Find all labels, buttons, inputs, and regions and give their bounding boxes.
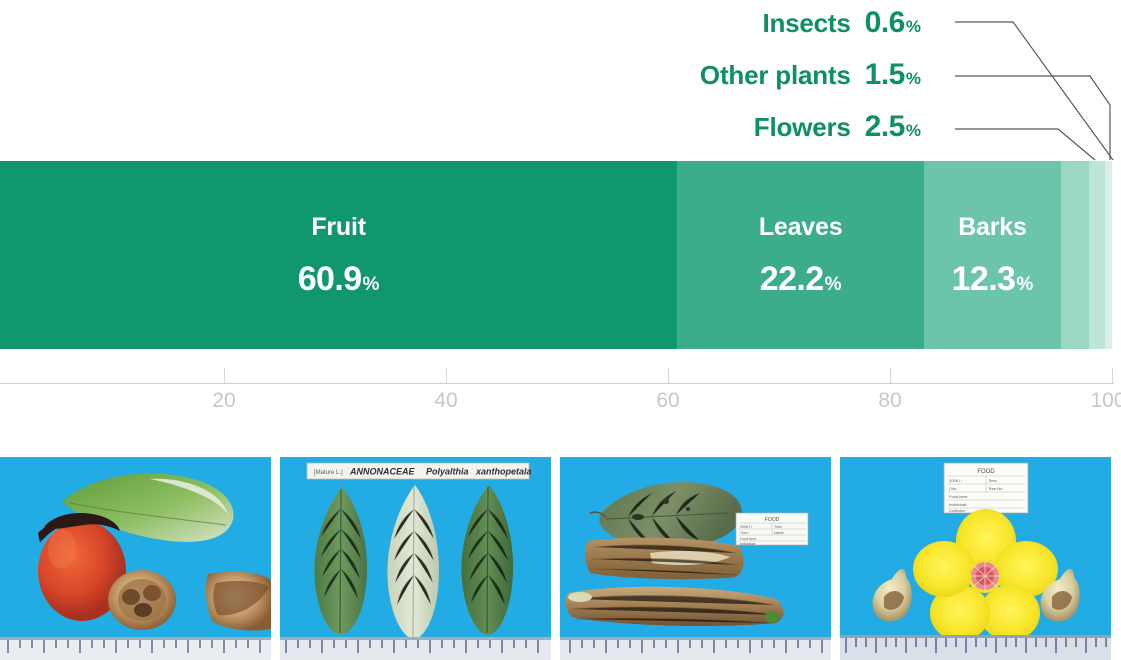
bar-segment-barks-valuerow: 12.3 % bbox=[952, 262, 1034, 296]
bar-segment-barks[interactable]: Barks 12.3 % bbox=[924, 161, 1061, 349]
svg-text:| No.: | No. bbox=[949, 486, 957, 491]
bar-segment-barks-value: 12.3 bbox=[952, 262, 1016, 296]
svg-text:2008 / /: 2008 / / bbox=[949, 478, 963, 483]
svg-text:Food Item:: Food Item: bbox=[949, 494, 968, 499]
svg-text:Time: Time bbox=[988, 478, 998, 483]
callout-insects: Insects 0.6 % bbox=[762, 6, 921, 40]
bar-segment-fruit[interactable]: Fruit 60.9 % bbox=[0, 161, 677, 349]
bar-segment-leaves-valuerow: 22.2 % bbox=[760, 262, 842, 296]
svg-text:ANNONACEAE: ANNONACEAE bbox=[349, 467, 416, 477]
callout-insects-label: Insects bbox=[762, 8, 850, 39]
stacked-bar-chart: Fruit 60.9 % Leaves 22.2 % Barks 12.3 % bbox=[0, 161, 1112, 349]
x-axis-label-80: 80 bbox=[878, 389, 901, 413]
photo-leaves[interactable]: [Mature L.] ANNONACEAE Polyalthia xantho… bbox=[280, 457, 551, 660]
photo-flowers-image: FOOD 2008 / / Time | No. Tree No. Food I… bbox=[840, 457, 1111, 660]
callout-other-plants-percent-sign: % bbox=[906, 69, 921, 89]
callout-flowers-value: 2.5 bbox=[865, 110, 905, 144]
x-axis: 20 40 60 80 100 bbox=[0, 349, 1121, 419]
svg-text:FOOD: FOOD bbox=[765, 517, 780, 523]
bar-segment-fruit-value: 60.9 bbox=[298, 262, 362, 296]
callout-flowers-label: Flowers bbox=[754, 112, 851, 143]
x-axis-tick-60 bbox=[668, 368, 669, 383]
x-axis-tick-20 bbox=[224, 368, 225, 383]
x-axis-label-100: 100 bbox=[1090, 389, 1121, 413]
x-axis-label-40: 40 bbox=[434, 389, 457, 413]
svg-text:[Mature L.]: [Mature L.] bbox=[314, 470, 343, 476]
callout-group: Insects 0.6 % Other plants 1.5 % Flowers… bbox=[0, 0, 1121, 160]
svg-text:2008 / /: 2008 / / bbox=[740, 525, 752, 529]
x-axis-label-60: 60 bbox=[656, 389, 679, 413]
bar-segment-barks-label: Barks bbox=[958, 215, 1027, 240]
bar-segment-leaves-percent-sign: % bbox=[825, 275, 842, 294]
callout-other-plants-value: 1.5 bbox=[865, 58, 905, 92]
svg-text:Polyalthia: Polyalthia bbox=[426, 467, 469, 477]
bar-segment-fruit-label: Fruit bbox=[311, 215, 366, 240]
bar-segment-leaves[interactable]: Leaves 22.2 % bbox=[677, 161, 924, 349]
bar-segment-leaves-label: Leaves bbox=[759, 215, 843, 240]
callout-other-plants: Other plants 1.5 % bbox=[700, 58, 921, 92]
callout-flowers: Flowers 2.5 % bbox=[754, 110, 921, 144]
svg-text:Collector:: Collector: bbox=[949, 508, 966, 513]
svg-text:xanthopetala: xanthopetala bbox=[475, 467, 532, 477]
svg-text:FOOD: FOOD bbox=[977, 469, 995, 475]
svg-text:Tree /: Tree / bbox=[740, 531, 749, 535]
svg-text:Individual:: Individual: bbox=[949, 502, 967, 507]
bar-segment-fruit-valuerow: 60.9 % bbox=[298, 262, 380, 296]
x-axis-tick-40 bbox=[446, 368, 447, 383]
photo-leaves-image: [Mature L.] ANNONACEAE Polyalthia xantho… bbox=[280, 457, 551, 660]
bar-segment-barks-percent-sign: % bbox=[1016, 275, 1033, 294]
x-axis-tick-100 bbox=[1112, 368, 1113, 383]
svg-text:Time: Time bbox=[774, 525, 782, 529]
svg-text:Tree No.: Tree No. bbox=[988, 486, 1003, 491]
bar-segment-insects[interactable] bbox=[1105, 161, 1112, 349]
photo-fruit[interactable] bbox=[0, 457, 271, 660]
svg-text:Name: Name bbox=[774, 531, 784, 535]
svg-text:Food Item:: Food Item: bbox=[740, 537, 757, 541]
bar-segment-flowers[interactable] bbox=[1061, 161, 1089, 349]
bar-segment-leaves-value: 22.2 bbox=[760, 262, 824, 296]
bar-segment-other-plants[interactable] bbox=[1089, 161, 1106, 349]
callout-insects-percent-sign: % bbox=[906, 17, 921, 37]
x-axis-tick-80 bbox=[890, 368, 891, 383]
photo-barks[interactable]: FOOD 2008 / / Time Tree / Name Food Item… bbox=[560, 457, 831, 660]
callout-insects-value: 0.6 bbox=[865, 6, 905, 40]
callout-other-plants-label: Other plants bbox=[700, 60, 851, 91]
svg-text:Individual:: Individual: bbox=[740, 542, 756, 546]
photo-flowers[interactable]: FOOD 2008 / / Time | No. Tree No. Food I… bbox=[840, 457, 1111, 660]
photo-barks-image: FOOD 2008 / / Time Tree / Name Food Item… bbox=[560, 457, 831, 660]
infographic-stage: Insects 0.6 % Other plants 1.5 % Flowers… bbox=[0, 0, 1121, 660]
x-axis-label-20: 20 bbox=[212, 389, 235, 413]
bar-segment-fruit-percent-sign: % bbox=[363, 275, 380, 294]
photo-strip: [Mature L.] ANNONACEAE Polyalthia xantho… bbox=[0, 457, 1121, 660]
callout-flowers-percent-sign: % bbox=[906, 121, 921, 141]
x-axis-line bbox=[0, 383, 1114, 384]
photo-fruit-image bbox=[0, 457, 271, 660]
